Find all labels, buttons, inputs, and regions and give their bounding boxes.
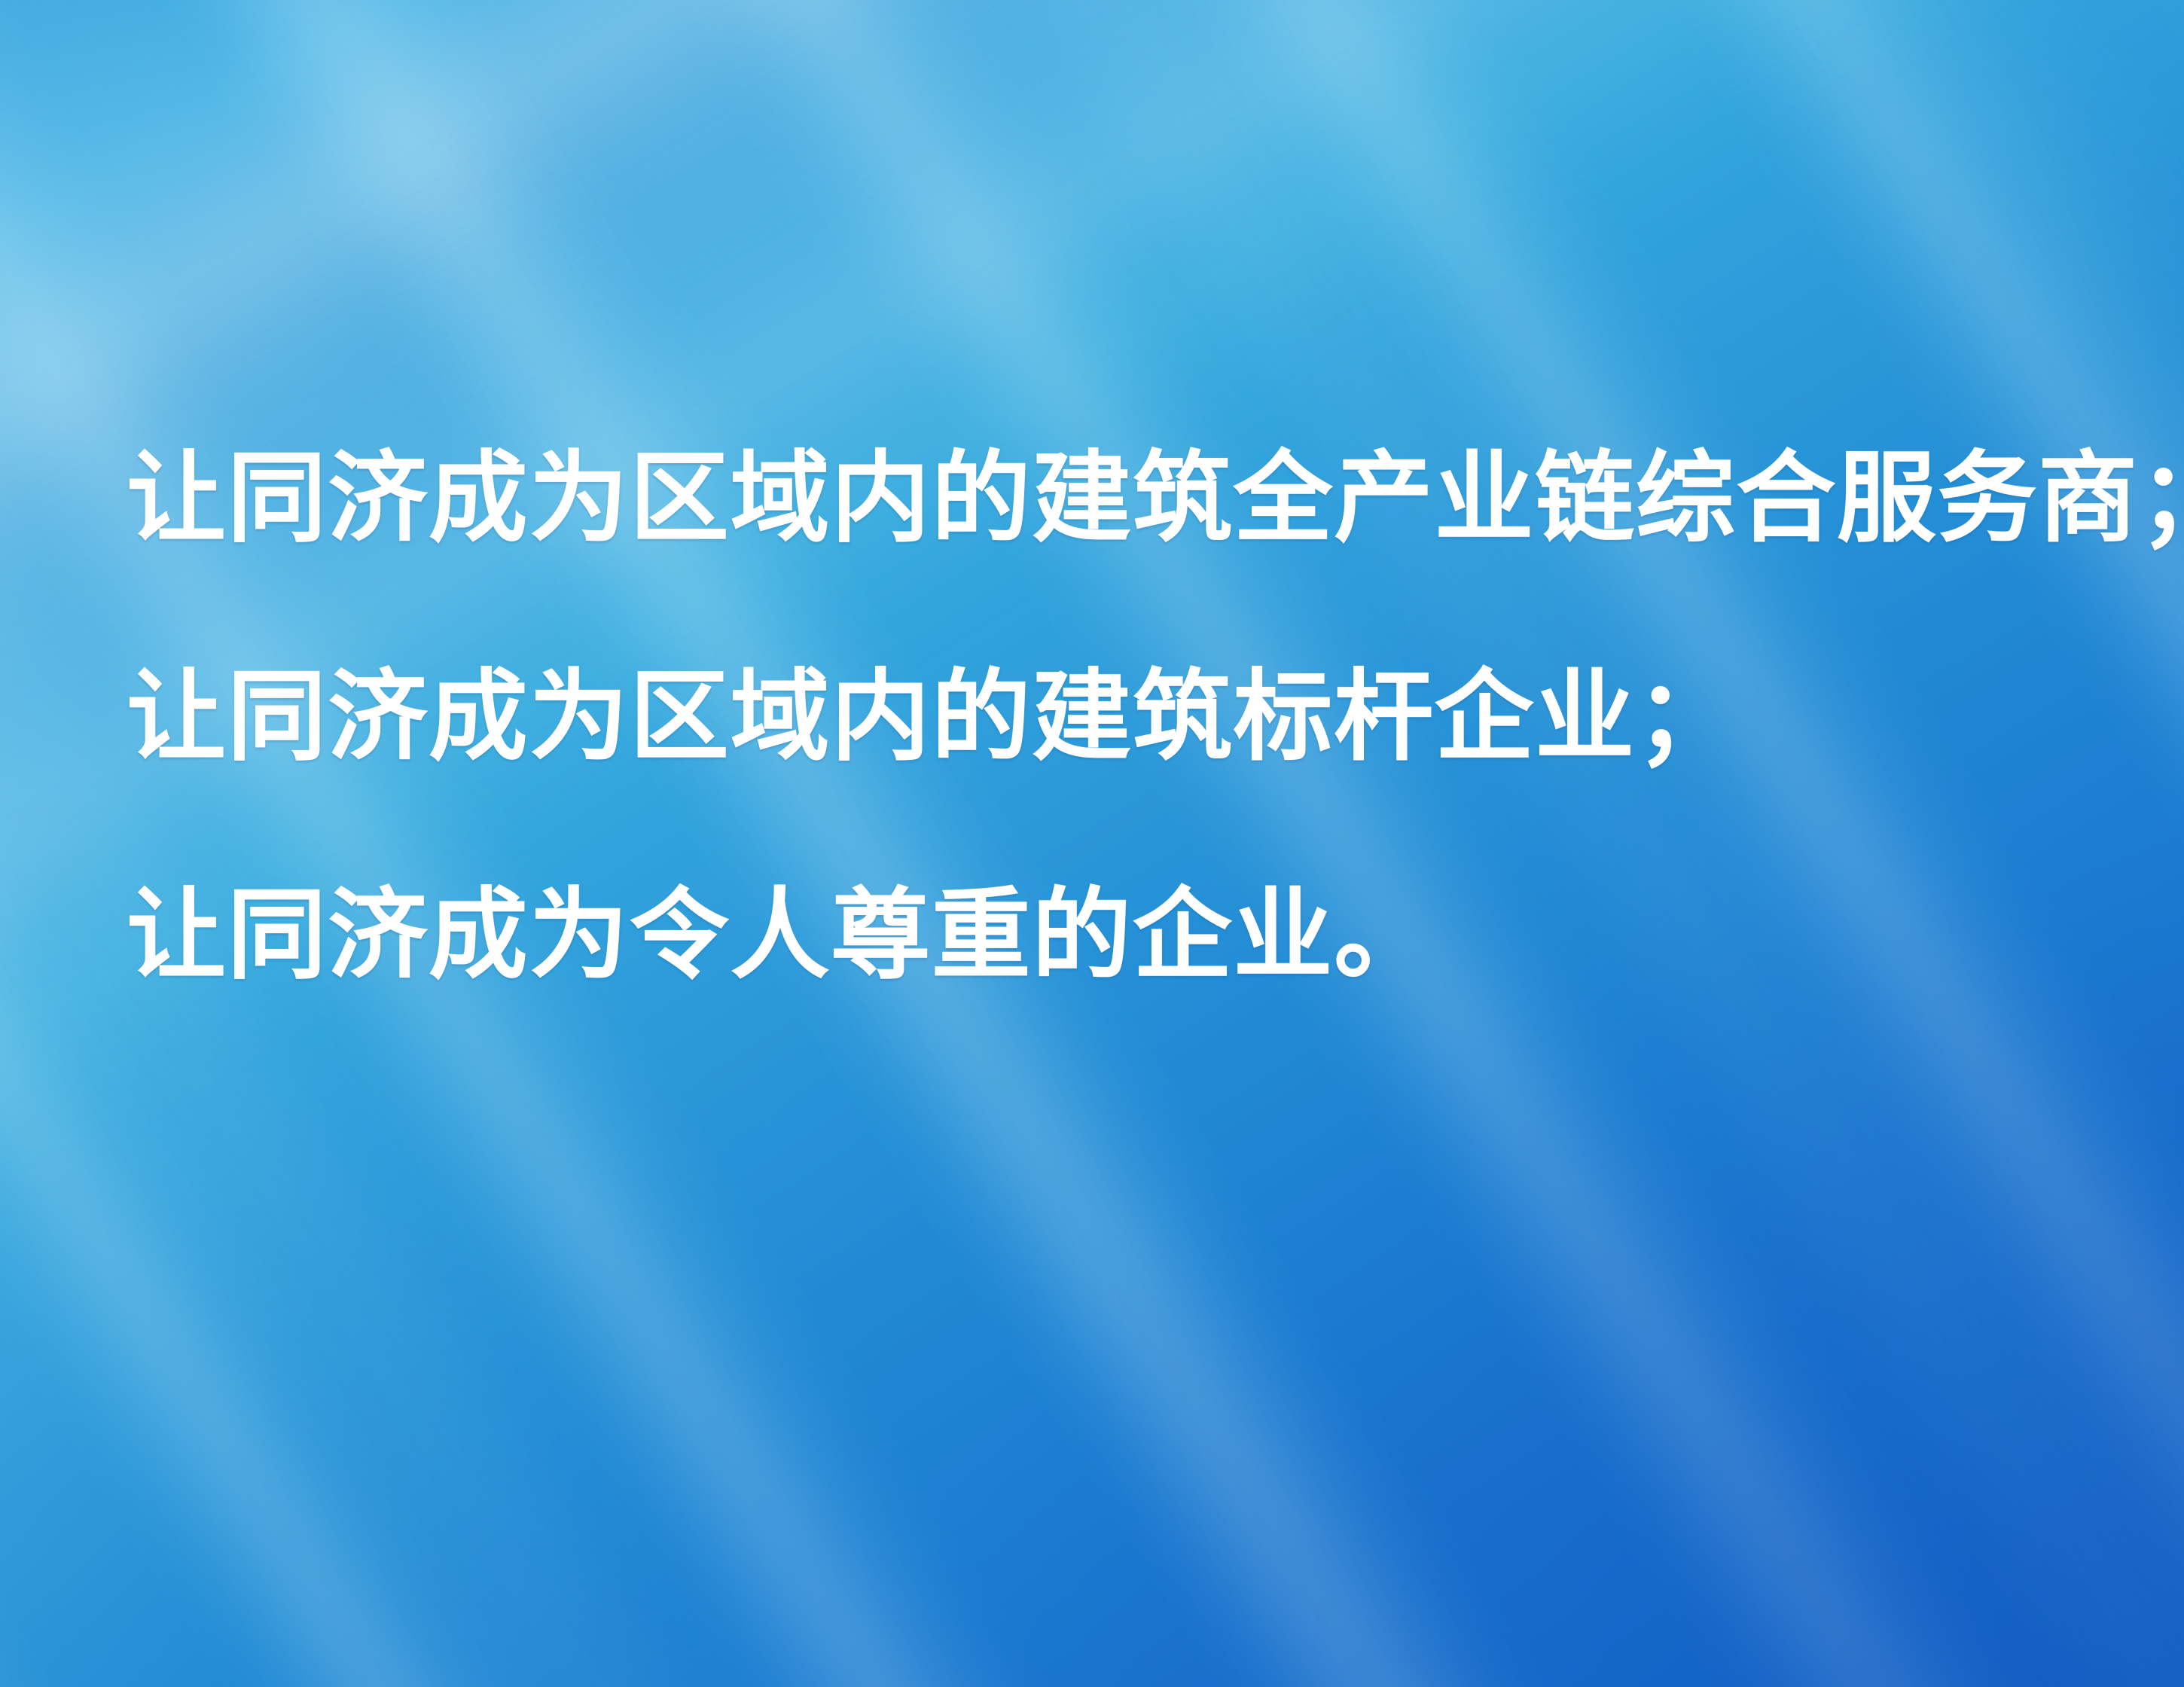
slide-line-3: 让同济成为令人尊重的企业。 <box>127 886 2085 985</box>
slide-line-1: 让同济成为区域内的建筑全产业链综合服务商； <box>127 449 2085 548</box>
slide-text-block: 让同济成为区域内的建筑全产业链综合服务商； 让同济成为区域内的建筑标杆企业； 让… <box>127 449 2085 985</box>
slide-line-2: 让同济成为区域内的建筑标杆企业； <box>127 667 2085 767</box>
slide-canvas: 让同济成为区域内的建筑全产业链综合服务商； 让同济成为区域内的建筑标杆企业； 让… <box>0 0 2184 1687</box>
